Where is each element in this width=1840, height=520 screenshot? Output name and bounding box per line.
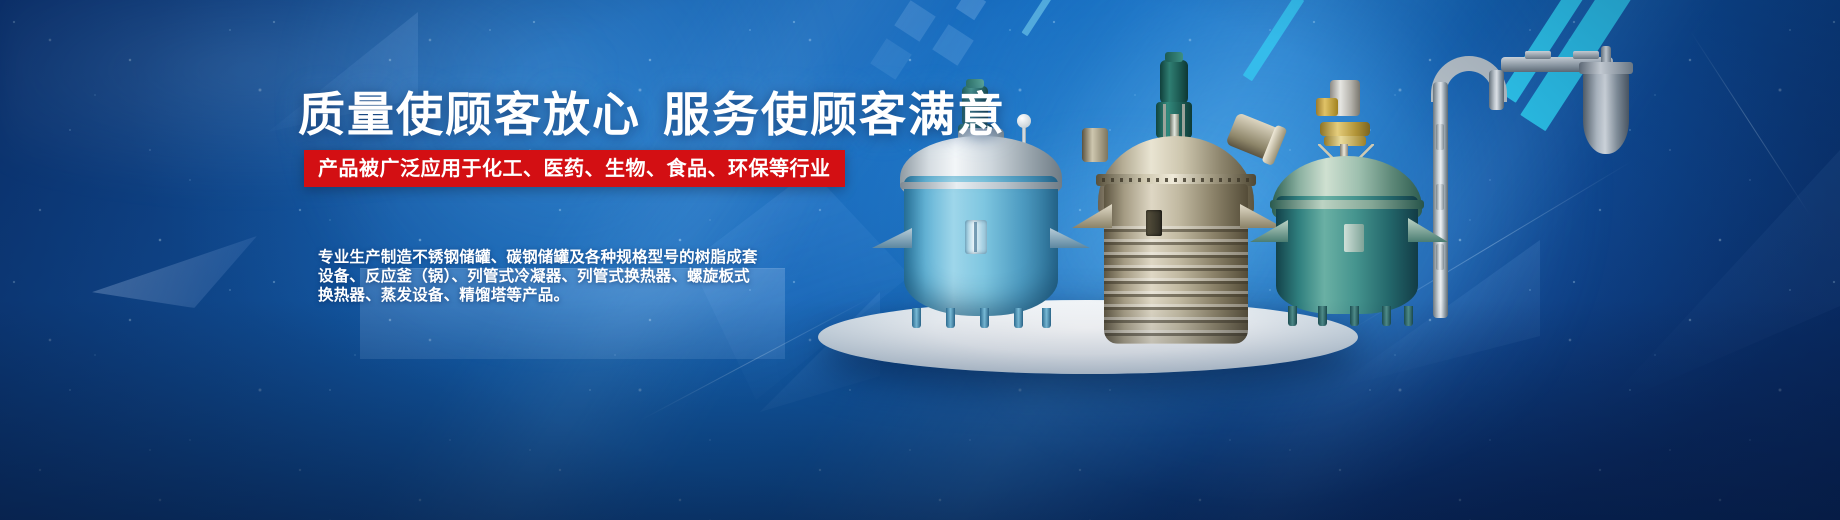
description-line-3: 换热器、蒸发设备、精馏塔等产品。: [318, 286, 788, 305]
tagline-badge: 产品被广泛应用于化工、医药、生物、食品、环保等行业: [304, 150, 845, 187]
banner-copy: 质量使顾客放心服务使顾客满意 产品被广泛应用于化工、医药、生物、食品、环保等行业…: [0, 0, 860, 520]
headline: 质量使顾客放心服务使顾客满意: [298, 92, 1006, 139]
description-line-2: 设备、反应釜（锅）、列管式冷凝器、列管式换热器、螺旋板式: [318, 267, 788, 286]
description-line-1: 专业生产制造不锈钢储罐、碳钢储罐及各种规格型号的树脂成套: [318, 248, 788, 267]
description-text: 专业生产制造不锈钢储罐、碳钢储罐及各种规格型号的树脂成套 设备、反应釜（锅）、列…: [318, 248, 788, 305]
headline-part-1: 质量使顾客放心: [298, 88, 641, 143]
promo-banner: 质量使顾客放心服务使顾客满意 产品被广泛应用于化工、医药、生物、食品、环保等行业…: [0, 0, 1840, 520]
headline-part-2: 服务使顾客满意: [663, 88, 1006, 143]
